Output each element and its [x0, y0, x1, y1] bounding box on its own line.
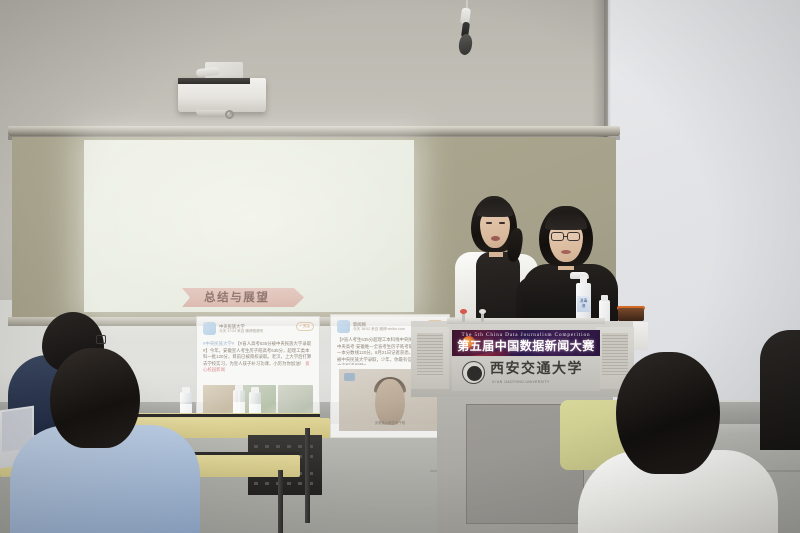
- post-meta: 今天 17:24 来自 微博视频号: [219, 329, 263, 334]
- post-header: 新闻网 今天 18:02 来自 微博 weibo.com: [337, 320, 405, 333]
- eyeglasses-icon: [96, 335, 106, 344]
- small-bottle-cap: [601, 295, 608, 301]
- bottle-cap: [182, 387, 190, 393]
- eyeglasses-right-lens: [567, 232, 580, 241]
- projected-slide: 总结与展望 中央民族大学 今天 17:24 来自 微博视频号 + 关注 #中央民…: [84, 140, 414, 312]
- mouth: [561, 250, 571, 254]
- speaker-grille-right: [602, 333, 628, 377]
- slide-title-text: 总结与展望: [204, 290, 304, 306]
- avatar: [203, 322, 216, 335]
- banner-english-title: The 5th China Data Journalism Competitio…: [452, 332, 600, 338]
- audience-far-right-dark: [760, 330, 800, 450]
- university-seal-icon: [462, 361, 485, 384]
- banner-chinese-title: 第五届中国数据新闻大赛: [452, 339, 600, 354]
- spray-bottle-label-text: 消毒液: [578, 298, 589, 308]
- university-name-english: XI'AN JIAOTONG UNIVERSITY: [492, 380, 596, 384]
- audience-hair: [50, 348, 140, 448]
- seal-inner: [467, 366, 482, 381]
- audience-hair: [616, 352, 720, 474]
- post-meta: 今天 18:02 来自 微博 weibo.com: [353, 327, 405, 332]
- university-name-chinese: 西安交通大学: [490, 361, 594, 379]
- eyeglasses-left-lens: [551, 232, 564, 241]
- podium-ledge: [447, 318, 605, 324]
- post-body: #中央民族大学# 【#盲人高考635分被中央民族大学录取#】今年，安徽宣人考生厉…: [203, 341, 313, 374]
- competition-banner: The 5th China Data Journalism Competitio…: [452, 330, 600, 356]
- projector-mount-ring: [225, 110, 234, 119]
- slide-title-banner: 总结与展望: [182, 288, 312, 307]
- eyeglasses-bridge: [564, 236, 567, 237]
- podium-microphone-right-head: [479, 309, 486, 314]
- projector-vent: [178, 78, 250, 84]
- bottle-cap: [235, 385, 243, 391]
- avatar: [337, 320, 350, 333]
- post-header: 中央民族大学 今天 17:24 来自 微博视频号: [203, 322, 263, 335]
- desk-leg: [305, 428, 310, 523]
- post-topic: #中央民族大学#: [203, 341, 234, 346]
- university-nameplate: 西安交通大学 XI'AN JIAOTONG UNIVERSITY: [452, 357, 600, 391]
- speaker-grille-left: [417, 333, 443, 377]
- whiteboard-top-rail: [8, 126, 620, 136]
- follow-button[interactable]: + 关注: [296, 322, 314, 331]
- mouth: [491, 236, 500, 241]
- video-caption: 安徽盲人考生厉子皓: [339, 420, 441, 425]
- dark-tray: [618, 308, 644, 321]
- bottle-cap: [251, 387, 259, 393]
- lecture-hall-photo: 总结与展望 中央民族大学 今天 17:24 来自 微博视频号 + 关注 #中央民…: [0, 0, 800, 533]
- desk-leg: [278, 470, 283, 533]
- podium-microphone-left-head: [460, 309, 467, 314]
- video-subject-face: [375, 379, 405, 425]
- video-badge-icon: [344, 373, 355, 381]
